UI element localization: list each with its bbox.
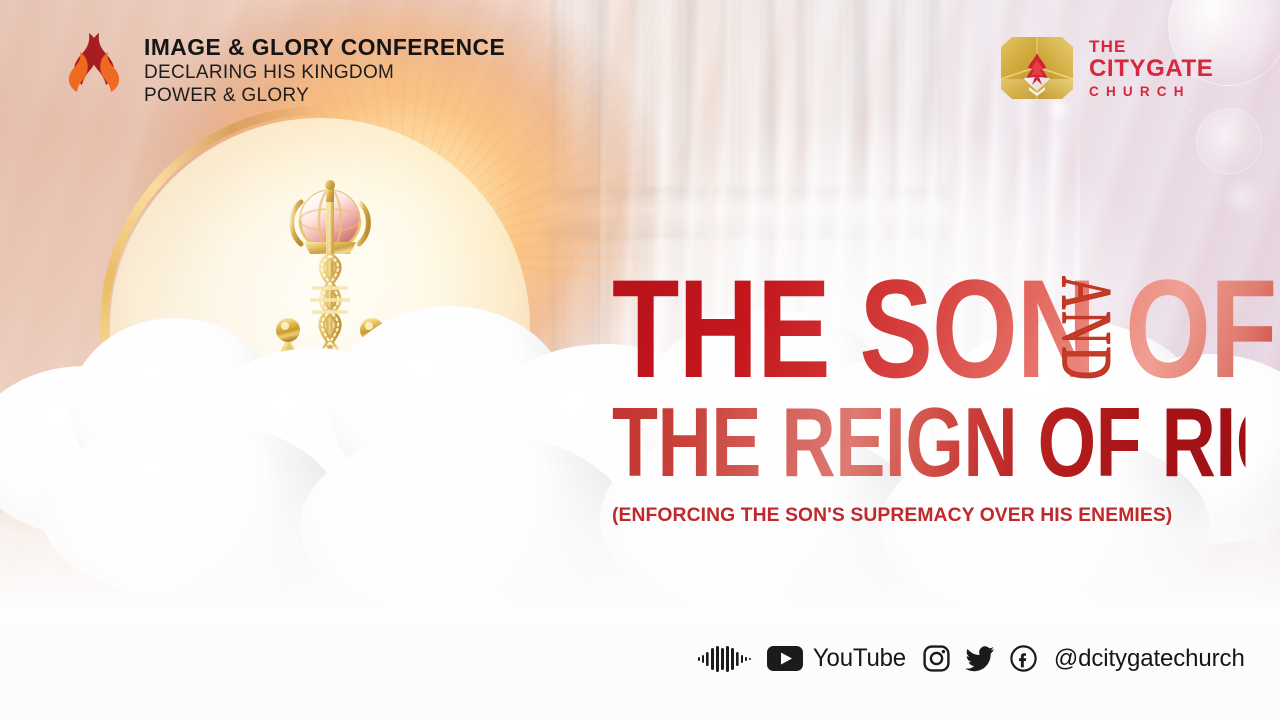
crown-icon [180,288,480,488]
conference-tagline-line2: POWER & GLORY [144,85,516,106]
lens-flare-icon [1222,176,1262,216]
social-bar: YouTube @dcitygatechurch [698,644,1245,673]
title-connector-and: AND [1046,276,1128,382]
conference-logo: IMAGE & GLORY CONFERENCE DECLARING HIS K… [58,30,516,107]
crown-emblem [72,92,592,562]
instagram-icon[interactable] [923,645,950,672]
lens-flare-icon [1196,108,1262,174]
twitter-icon[interactable] [965,646,995,672]
conference-tagline-line1: DECLARING HIS KINGDOM [144,62,516,83]
church-name-label: CITYGATE [1089,57,1213,81]
title-line2: THE REIGN OF RIGHTEOUSNESS [612,394,1246,493]
church-logo: THE CITYGATE CHURCH [998,33,1213,103]
title-line1: THE SON OF GOD [612,262,1280,397]
social-handle[interactable]: @dcitygatechurch [1054,645,1245,673]
twin-flame-icon [58,30,130,96]
conference-slide: IMAGE & GLORY CONFERENCE DECLARING HIS K… [0,0,1280,720]
title-line1-row: THE SON OF GOD AND [612,262,1252,398]
title-block: THE SON OF GOD AND THE REIGN OF RIGHTEOU… [612,262,1252,527]
youtube-link[interactable]: YouTube [767,644,908,673]
audio-waveform-icon [698,646,752,672]
title-subtitle: (ENFORCING THE SON'S SUPREMACY OVER HIS … [612,504,1246,527]
citygate-shield-flame-icon [998,33,1076,103]
youtube-icon[interactable] [767,646,803,671]
church-word-label: CHURCH [1089,85,1213,99]
facebook-icon[interactable] [1010,645,1037,672]
church-the-label: THE [1089,38,1213,55]
youtube-label[interactable]: YouTube [813,644,906,673]
conference-title: IMAGE & GLORY CONFERENCE [144,36,505,60]
